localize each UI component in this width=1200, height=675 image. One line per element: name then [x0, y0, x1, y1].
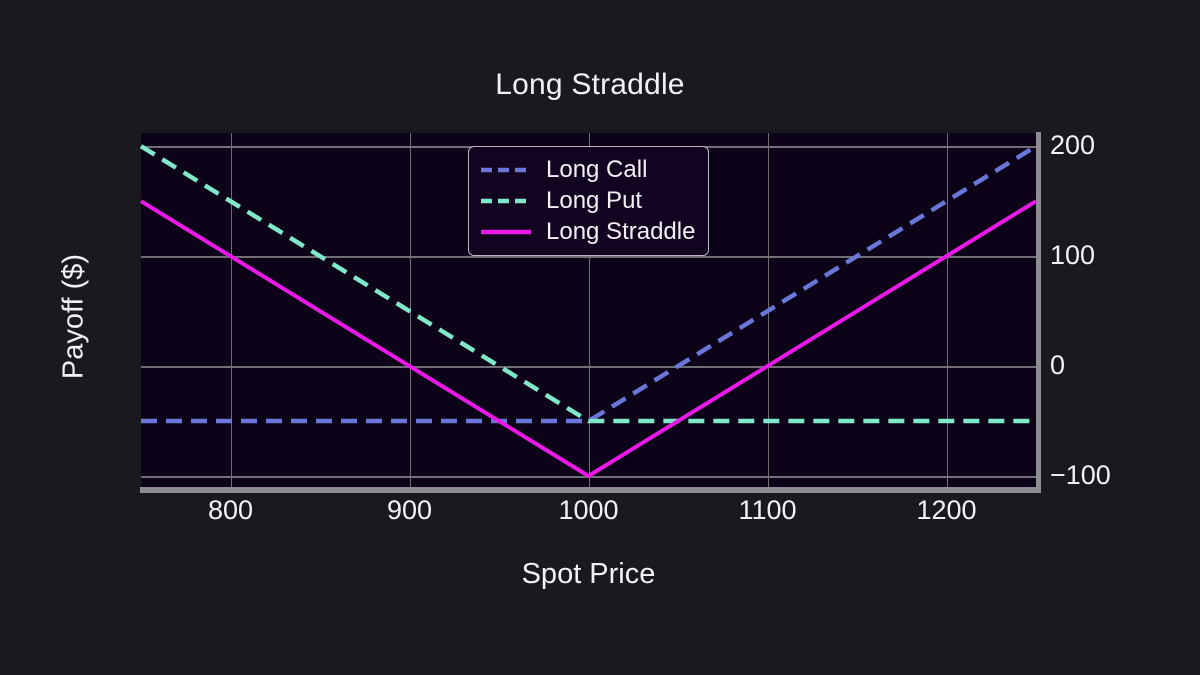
chart-figure: Long Straddle 2001000−100 80090010001100…	[0, 0, 1200, 675]
legend-item-long-straddle[interactable]: Long Straddle	[480, 216, 695, 247]
x-axis-label: Spot Price	[141, 558, 1036, 591]
legend-swatch-icon	[480, 221, 532, 243]
legend-swatch-icon	[480, 190, 532, 212]
legend-item-long-call[interactable]: Long Call	[480, 154, 695, 185]
x-tick-label: 800	[208, 497, 253, 524]
x-tick-label: 1200	[916, 497, 976, 524]
y-tick-label: 200	[1050, 132, 1095, 159]
legend-swatch-icon	[480, 159, 532, 181]
y-axis-label: Payoff ($)	[58, 202, 91, 432]
x-tick-label: 1000	[558, 497, 618, 524]
axis-spine-right	[1036, 132, 1041, 488]
legend-label: Long Put	[546, 189, 642, 213]
legend-label: Long Call	[546, 158, 647, 182]
chart-legend[interactable]: Long CallLong PutLong Straddle	[468, 146, 709, 256]
x-tick-label: 1100	[738, 497, 796, 524]
x-tick-label: 900	[387, 497, 432, 524]
axis-spine-bottom	[140, 487, 1041, 493]
y-tick-label: −100	[1050, 462, 1111, 489]
legend-label: Long Straddle	[546, 220, 695, 244]
legend-item-long-put[interactable]: Long Put	[480, 185, 695, 216]
chart-title: Long Straddle	[0, 68, 1180, 102]
y-tick-label: 0	[1050, 352, 1065, 379]
y-tick-label: 100	[1050, 242, 1095, 269]
